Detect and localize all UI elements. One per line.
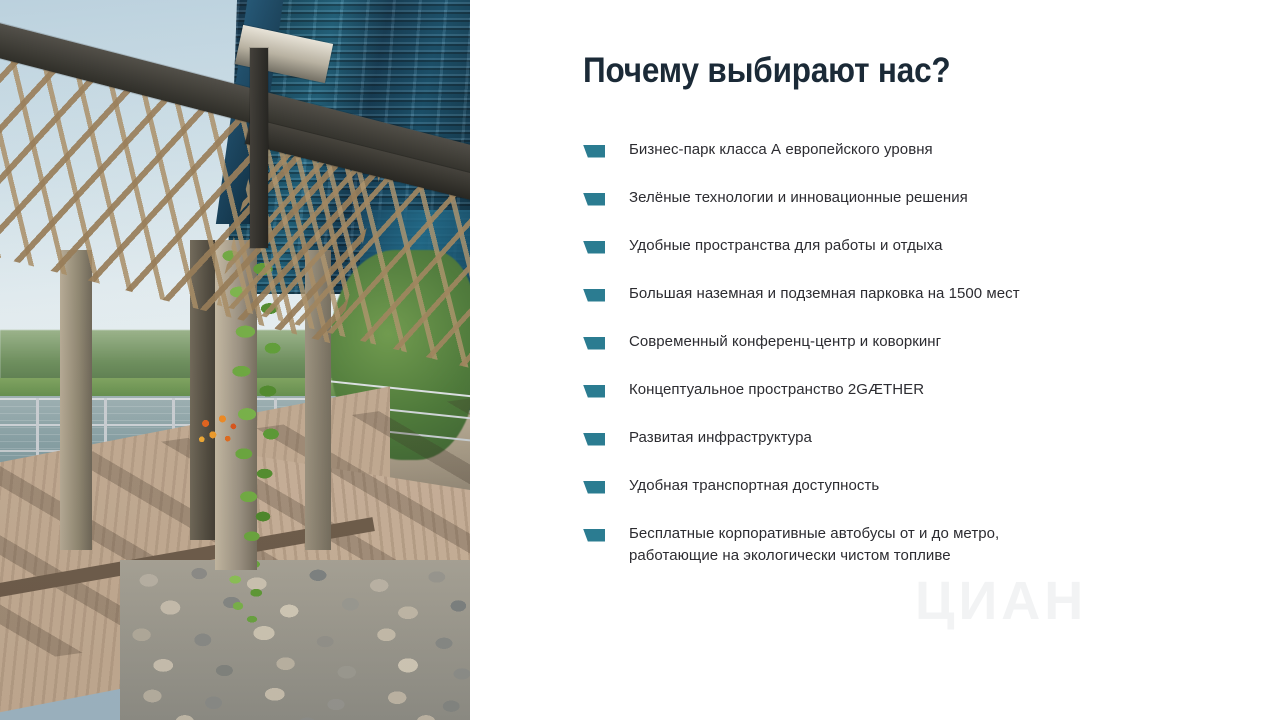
- flag-marker-icon: [583, 241, 605, 254]
- slide-root: Почему выбирают нас? Бизнес-парк класса …: [0, 0, 1280, 720]
- list-item-label: Современный конференц-центр и коворкинг: [629, 331, 941, 353]
- photo-pergola-post: [250, 48, 268, 248]
- page-title: Почему выбирают нас?: [583, 52, 1156, 91]
- list-item: Концептуальное пространство 2GÆTHER: [583, 379, 1220, 406]
- list-item-label: Зелёные технологии и инновационные решен…: [629, 187, 968, 209]
- watermark: ЦИАН: [915, 570, 1087, 632]
- list-item: Большая наземная и подземная парковка на…: [583, 283, 1220, 310]
- list-item-label: Концептуальное пространство 2GÆTHER: [629, 379, 924, 401]
- list-item-label-line1: Бесплатные корпоративные автобусы от и д…: [629, 525, 999, 542]
- list-item: Развитая инфраструктура: [583, 427, 1220, 454]
- content-panel: Почему выбирают нас? Бизнес-парк класса …: [470, 0, 1280, 720]
- list-item-label: Бесплатные корпоративные автобусы от и д…: [629, 523, 999, 567]
- flag-marker-icon: [583, 481, 605, 494]
- flag-marker-icon: [583, 385, 605, 398]
- list-item: Бесплатные корпоративные автобусы от и д…: [583, 523, 1220, 567]
- benefits-list: Бизнес-парк класса А европейского уровня…: [583, 139, 1220, 567]
- list-item-label: Бизнес-парк класса А европейского уровня: [629, 139, 933, 161]
- list-item: Удобная транспортная доступность: [583, 475, 1220, 502]
- flag-marker-icon: [583, 529, 605, 542]
- list-item: Современный конференц-центр и коворкинг: [583, 331, 1220, 358]
- photo-composition: [0, 0, 470, 720]
- flag-marker-icon: [583, 337, 605, 350]
- flag-marker-icon: [583, 193, 605, 206]
- list-item-label: Развитая инфраструктура: [629, 427, 812, 449]
- list-item-label: Удобные пространства для работы и отдыха: [629, 235, 942, 257]
- flag-marker-icon: [583, 289, 605, 302]
- list-item: Зелёные технологии и инновационные решен…: [583, 187, 1220, 214]
- photo-column: [60, 250, 92, 550]
- list-item: Бизнес-парк класса А европейского уровня: [583, 139, 1220, 166]
- hero-photo: [0, 0, 470, 720]
- list-item-label: Большая наземная и подземная парковка на…: [629, 283, 1020, 305]
- list-item-label: Удобная транспортная доступность: [629, 475, 879, 497]
- list-item-label-line2: работающие на экологически чистом топлив…: [629, 545, 999, 567]
- flag-marker-icon: [583, 145, 605, 158]
- flag-marker-icon: [583, 433, 605, 446]
- photo-pebble-gravel: [120, 560, 470, 720]
- list-item: Удобные пространства для работы и отдыха: [583, 235, 1220, 262]
